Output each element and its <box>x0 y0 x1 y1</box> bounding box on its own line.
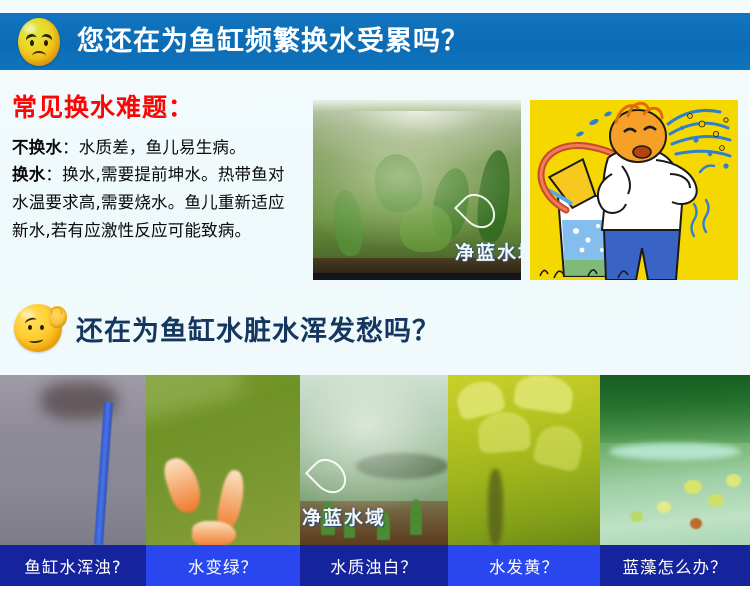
promo-page: 您还在为鱼缸频繁换水受累吗？ 常见换水难题： 不换水：水质差，鱼儿易生病。 换水… <box>0 0 750 592</box>
gallery-bottom-spacer <box>0 586 750 592</box>
gallery-image-bluegreen-algae[interactable] <box>600 375 750 545</box>
header-banner: 您还在为鱼缸频繁换水受累吗？ <box>0 13 750 70</box>
milky-water-texture <box>300 375 448 545</box>
problem-line-1: 不换水：水质差，鱼儿易生病。 <box>12 134 304 162</box>
tank-base <box>313 273 521 280</box>
man-siphoning-water-cartoon <box>530 100 738 280</box>
sub-heading-row: 还在为鱼缸水脏水浑发愁吗？ <box>14 300 440 356</box>
gallery-image-strip: 净蓝水域 <box>0 375 750 545</box>
problem-line-4: 新水,若有应激性反应可能致病。 <box>12 217 304 245</box>
emoji-finger <box>51 307 62 314</box>
gallery-image-murky[interactable] <box>0 375 146 545</box>
green-water-texture <box>146 375 300 545</box>
problem-text-block: 常见换水难题： 不换水：水质差，鱼儿易生病。 换水：换水,需要提前坤水。热带鱼对… <box>12 94 304 244</box>
emoji-frown-mouth <box>32 51 46 61</box>
sub-heading-title: 还在为鱼缸水脏水浑发愁吗？ <box>76 309 440 348</box>
water-problem-gallery: 净蓝水域 <box>0 375 750 592</box>
gallery-label-milky[interactable]: 水质浊白？ <box>300 545 448 586</box>
bluegreen-algae-texture <box>600 375 750 545</box>
problem-line-2-label: 换水 <box>12 165 45 184</box>
emoji-highlight <box>24 24 36 33</box>
problem-line-3: 水温要求高,需要烧水。鱼儿重新适应 <box>12 189 304 217</box>
problem-body: 不换水：水质差，鱼儿易生病。 换水：换水,需要提前坤水。热带鱼对 水温要求高,需… <box>12 134 304 245</box>
thinking-face-emoji <box>14 304 62 352</box>
problem-line-2-text: ：换水,需要提前坤水。热带鱼对 <box>45 165 284 184</box>
header-title: 您还在为鱼缸频繁换水受累吗？ <box>77 28 469 55</box>
emoji-eye-left <box>30 40 34 46</box>
gallery-label-yellow[interactable]: 水发黄？ <box>448 545 600 586</box>
tank-haze <box>313 100 521 280</box>
gallery-image-milky[interactable]: 净蓝水域 <box>300 375 448 545</box>
problem-line-1-text: ：水质差，鱼儿易生病。 <box>62 138 246 157</box>
problem-line-1-label: 不换水 <box>12 138 62 157</box>
emoji-eye-right <box>40 325 44 330</box>
gallery-label-row: 鱼缸水浑浊? 水变绿？ 水质浊白？ 水发黄？ 蓝藻怎么办？ <box>0 545 750 586</box>
cartoon-illustration <box>530 100 738 280</box>
yellow-water-texture <box>448 375 600 545</box>
emoji-mouth <box>29 336 44 343</box>
gallery-label-green[interactable]: 水变绿？ <box>146 545 300 586</box>
gallery-image-green[interactable] <box>146 375 300 545</box>
gallery-label-murky[interactable]: 鱼缸水浑浊? <box>0 545 146 586</box>
gallery-image-yellow[interactable] <box>448 375 600 545</box>
emoji-eye-right <box>44 40 48 46</box>
sad-face-emoji <box>18 18 60 66</box>
murky-water-texture <box>0 375 146 545</box>
cloudy-planted-aquarium-photo: 净蓝水域 <box>313 100 521 280</box>
emoji-eye-left <box>28 325 32 330</box>
gallery-label-algae[interactable]: 蓝藻怎么办？ <box>600 545 750 586</box>
top-photo-row: 净蓝水域 <box>313 100 738 280</box>
problem-title: 常见换水难题： <box>12 94 304 122</box>
problem-line-2: 换水：换水,需要提前坤水。热带鱼对 <box>12 161 304 189</box>
